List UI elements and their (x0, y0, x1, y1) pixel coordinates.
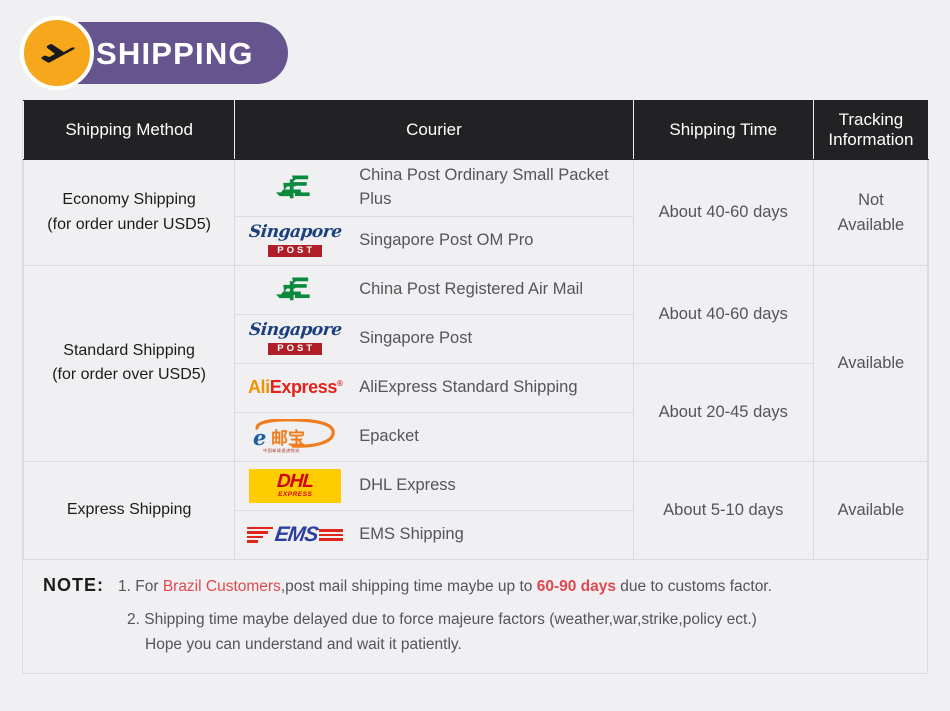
banner-container: SHIPPING (0, 0, 950, 84)
china-post-logo (241, 270, 349, 310)
courier-name: China Post Registered Air Mail (349, 278, 583, 302)
svg-text:中国邮政速递物流: 中国邮政速递物流 (263, 447, 300, 454)
header-shipping-method: Shipping Method (24, 101, 235, 160)
airplane-icon (20, 16, 94, 90)
ems-wordmark: EMS (273, 524, 318, 545)
method-label-line1: Economy Shipping (62, 191, 195, 208)
svg-text:e: e (253, 425, 266, 450)
note-1-highlight-brazil: Brazil Customers (163, 578, 281, 595)
courier-cell: Singapore POST Singapore Post OM Pro (235, 216, 633, 265)
banner-title: SHIPPING (96, 38, 254, 69)
courier-name: AliExpress Standard Shipping (349, 376, 577, 400)
aliexpress-express: Express (270, 377, 337, 397)
tracking-status: Available (813, 265, 928, 461)
epacket-logo: e 邮宝 中国邮政速递物流 (241, 417, 349, 457)
note-section: NOTE: 1. For Brazil Customers,post mail … (23, 560, 927, 673)
note-item-1: NOTE: 1. For Brazil Customers,post mail … (43, 574, 911, 599)
aliexpress-tm: ® (337, 379, 343, 388)
courier-cell: Singapore POST Singapore Post (235, 314, 633, 363)
courier-cell: China Post Registered Air Mail (235, 265, 633, 314)
shipping-time-value: About 5-10 days (633, 461, 813, 559)
table-header-row: Shipping Method Courier Shipping Time Tr… (24, 101, 929, 160)
shipping-time-value: About 40-60 days (633, 160, 813, 266)
dhl-wordmark: DHL (277, 473, 314, 491)
courier-name: EMS Shipping (349, 523, 464, 547)
note-2-line2: Hope you can understand and wait it pati… (145, 632, 911, 657)
shipping-time-value: About 40-60 days (633, 265, 813, 363)
shipping-table: Shipping Method Courier Shipping Time Tr… (23, 100, 929, 560)
courier-cell: DHL EXPRESS DHL Express (235, 461, 633, 510)
tracking-status: Not Available (813, 160, 928, 266)
singapore-post-script: Singapore (248, 322, 342, 339)
note-1-number: 1. (118, 578, 131, 595)
shipping-table-container: Shipping Method Courier Shipping Time Tr… (22, 100, 928, 674)
note-2-line1: Shipping time maybe delayed due to force… (144, 611, 757, 628)
courier-cell: EMS EMS Shipping (235, 510, 633, 559)
china-post-logo (241, 168, 349, 208)
note-1-pre: For (135, 578, 163, 595)
method-label-line1: Standard Shipping (63, 342, 195, 359)
courier-name: DHL Express (349, 474, 456, 498)
shipping-time-value: About 20-45 days (633, 363, 813, 461)
courier-name: Singapore Post (349, 327, 472, 351)
dhl-express-sub: EXPRESS (278, 492, 312, 499)
note-1-mid: ,post mail shipping time maybe up to (281, 578, 537, 595)
method-standard-shipping: Standard Shipping (for order over USD5) (24, 265, 235, 461)
header-courier: Courier (235, 101, 633, 160)
singapore-post-box: POST (268, 343, 322, 356)
note-1-text: 1. For Brazil Customers,post mail shippi… (118, 574, 772, 599)
header-tracking-information: Tracking Information (813, 101, 928, 160)
courier-name: Singapore Post OM Pro (349, 229, 533, 253)
table-row: Standard Shipping (for order over USD5) (24, 265, 929, 314)
table-row: Express Shipping DHL EXPRESS DHL Express (24, 461, 929, 510)
dhl-logo: DHL EXPRESS (241, 466, 349, 506)
table-row: Economy Shipping (for order under USD5) (24, 160, 929, 217)
svg-text:邮宝: 邮宝 (271, 428, 305, 449)
courier-cell: e 邮宝 中国邮政速递物流 Epacket (235, 412, 633, 461)
courier-cell: China Post Ordinary Small Packet Plus (235, 160, 633, 217)
header-tracking-line1: Tracking (839, 110, 904, 129)
courier-cell: AliExpress® AliExpress Standard Shipping (235, 363, 633, 412)
shipping-banner: SHIPPING (22, 22, 288, 84)
method-label-line2: (for order over USD5) (52, 366, 206, 383)
tracking-status: Available (813, 461, 928, 559)
note-item-2: 2. Shipping time maybe delayed due to fo… (127, 607, 911, 657)
method-economy-shipping: Economy Shipping (for order under USD5) (24, 160, 235, 266)
courier-name: China Post Ordinary Small Packet Plus (349, 164, 632, 212)
singapore-post-script: Singapore (248, 224, 342, 241)
method-label-line2: (for order under USD5) (47, 216, 211, 233)
singapore-post-box: POST (268, 245, 322, 258)
tracking-line1: Not (858, 191, 884, 209)
tracking-line2: Available (838, 216, 905, 234)
note-1-highlight-days: 60-90 days (537, 578, 616, 595)
aliexpress-ali: Ali (248, 377, 270, 397)
note-label: NOTE: (43, 575, 104, 596)
ems-left-bars (247, 527, 273, 543)
shipping-info-page: SHIPPING Shipping Method Courier Shippin… (0, 0, 950, 711)
ems-right-bars (319, 529, 343, 541)
ems-logo: EMS (241, 515, 349, 555)
singapore-post-logo: Singapore POST (241, 319, 349, 359)
method-label-line1: Express Shipping (67, 501, 192, 518)
header-tracking-line2: Information (828, 130, 913, 149)
note-1-post: due to customs factor. (616, 578, 772, 595)
aliexpress-logo: AliExpress® (241, 368, 349, 408)
courier-name: Epacket (349, 425, 419, 449)
header-shipping-time: Shipping Time (633, 101, 813, 160)
note-2-number: 2. (127, 611, 140, 628)
singapore-post-logo: Singapore POST (241, 221, 349, 261)
method-express-shipping: Express Shipping (24, 461, 235, 559)
